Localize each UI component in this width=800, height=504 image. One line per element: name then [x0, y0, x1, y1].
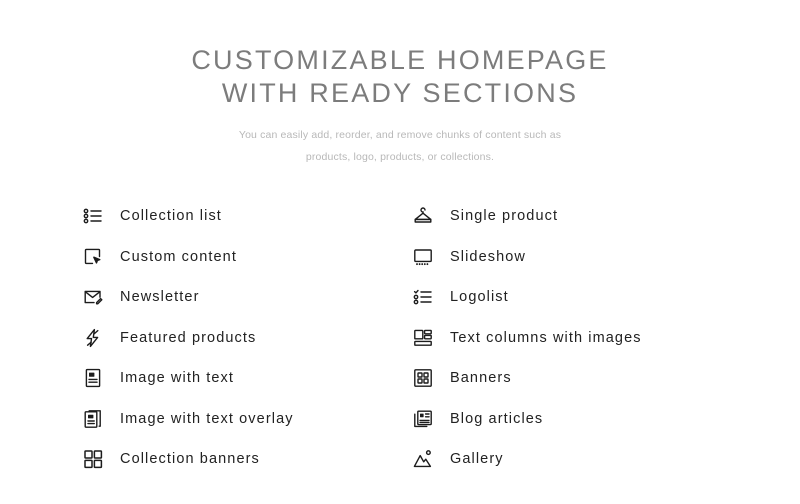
feature-label: Featured products [120, 330, 256, 346]
feature-label: Logolist [450, 289, 509, 305]
columns-layout-icon [410, 325, 436, 351]
header: CUSTOMIZABLE HOMEPAGE WITH READY SECTION… [0, 0, 800, 168]
square-cursor-icon [80, 244, 106, 270]
feature-item-collection-list[interactable]: Collection list [80, 196, 390, 237]
page-subtitle: You can easily add, reorder, and remove … [215, 124, 585, 168]
feature-label: Single product [450, 208, 558, 224]
grid-box-icon [410, 365, 436, 391]
feature-label: Gallery [450, 451, 504, 467]
mountain-sun-icon [410, 446, 436, 472]
feature-label: Image with text [120, 370, 234, 386]
feature-item-text-columns-with-images[interactable]: Text columns with images [410, 318, 720, 359]
feature-item-logolist[interactable]: Logolist [410, 277, 720, 318]
stacked-documents-icon [80, 406, 106, 432]
feature-item-featured-products[interactable]: Featured products [80, 318, 390, 359]
list-bullets-icon [80, 203, 106, 229]
feature-label: Collection banners [120, 451, 260, 467]
stacked-articles-icon [410, 406, 436, 432]
feature-label: Blog articles [450, 411, 543, 427]
feature-label: Banners [450, 370, 512, 386]
feature-item-banners[interactable]: Banners [410, 358, 720, 399]
feature-item-newsletter[interactable]: Newsletter [80, 277, 390, 318]
feature-label: Newsletter [120, 289, 200, 305]
four-squares-icon [80, 446, 106, 472]
feature-item-slideshow[interactable]: Slideshow [410, 237, 720, 278]
feature-item-image-with-text-overlay[interactable]: Image with text overlay [80, 399, 390, 440]
feature-item-image-with-text[interactable]: Image with text [80, 358, 390, 399]
feature-label: Slideshow [450, 249, 526, 265]
envelope-pencil-icon [80, 284, 106, 310]
lightning-bolt-icon [80, 325, 106, 351]
feature-label: Image with text overlay [120, 411, 294, 427]
monitor-screen-icon [410, 244, 436, 270]
feature-item-gallery[interactable]: Gallery [410, 439, 720, 480]
feature-list: Collection list Custom content Newslette… [80, 196, 720, 480]
checklist-bullets-icon [410, 284, 436, 310]
feature-item-single-product[interactable]: Single product [410, 196, 720, 237]
feature-label: Custom content [120, 249, 237, 265]
homepage-sections-panel: CUSTOMIZABLE HOMEPAGE WITH READY SECTION… [0, 0, 800, 504]
clothes-hanger-icon [410, 203, 436, 229]
feature-label: Text columns with images [450, 330, 642, 346]
feature-item-collection-banners[interactable]: Collection banners [80, 439, 390, 480]
feature-item-custom-content[interactable]: Custom content [80, 237, 390, 278]
document-image-text-icon [80, 365, 106, 391]
page-title: CUSTOMIZABLE HOMEPAGE WITH READY SECTION… [0, 44, 800, 110]
feature-label: Collection list [120, 208, 222, 224]
feature-item-blog-articles[interactable]: Blog articles [410, 399, 720, 440]
